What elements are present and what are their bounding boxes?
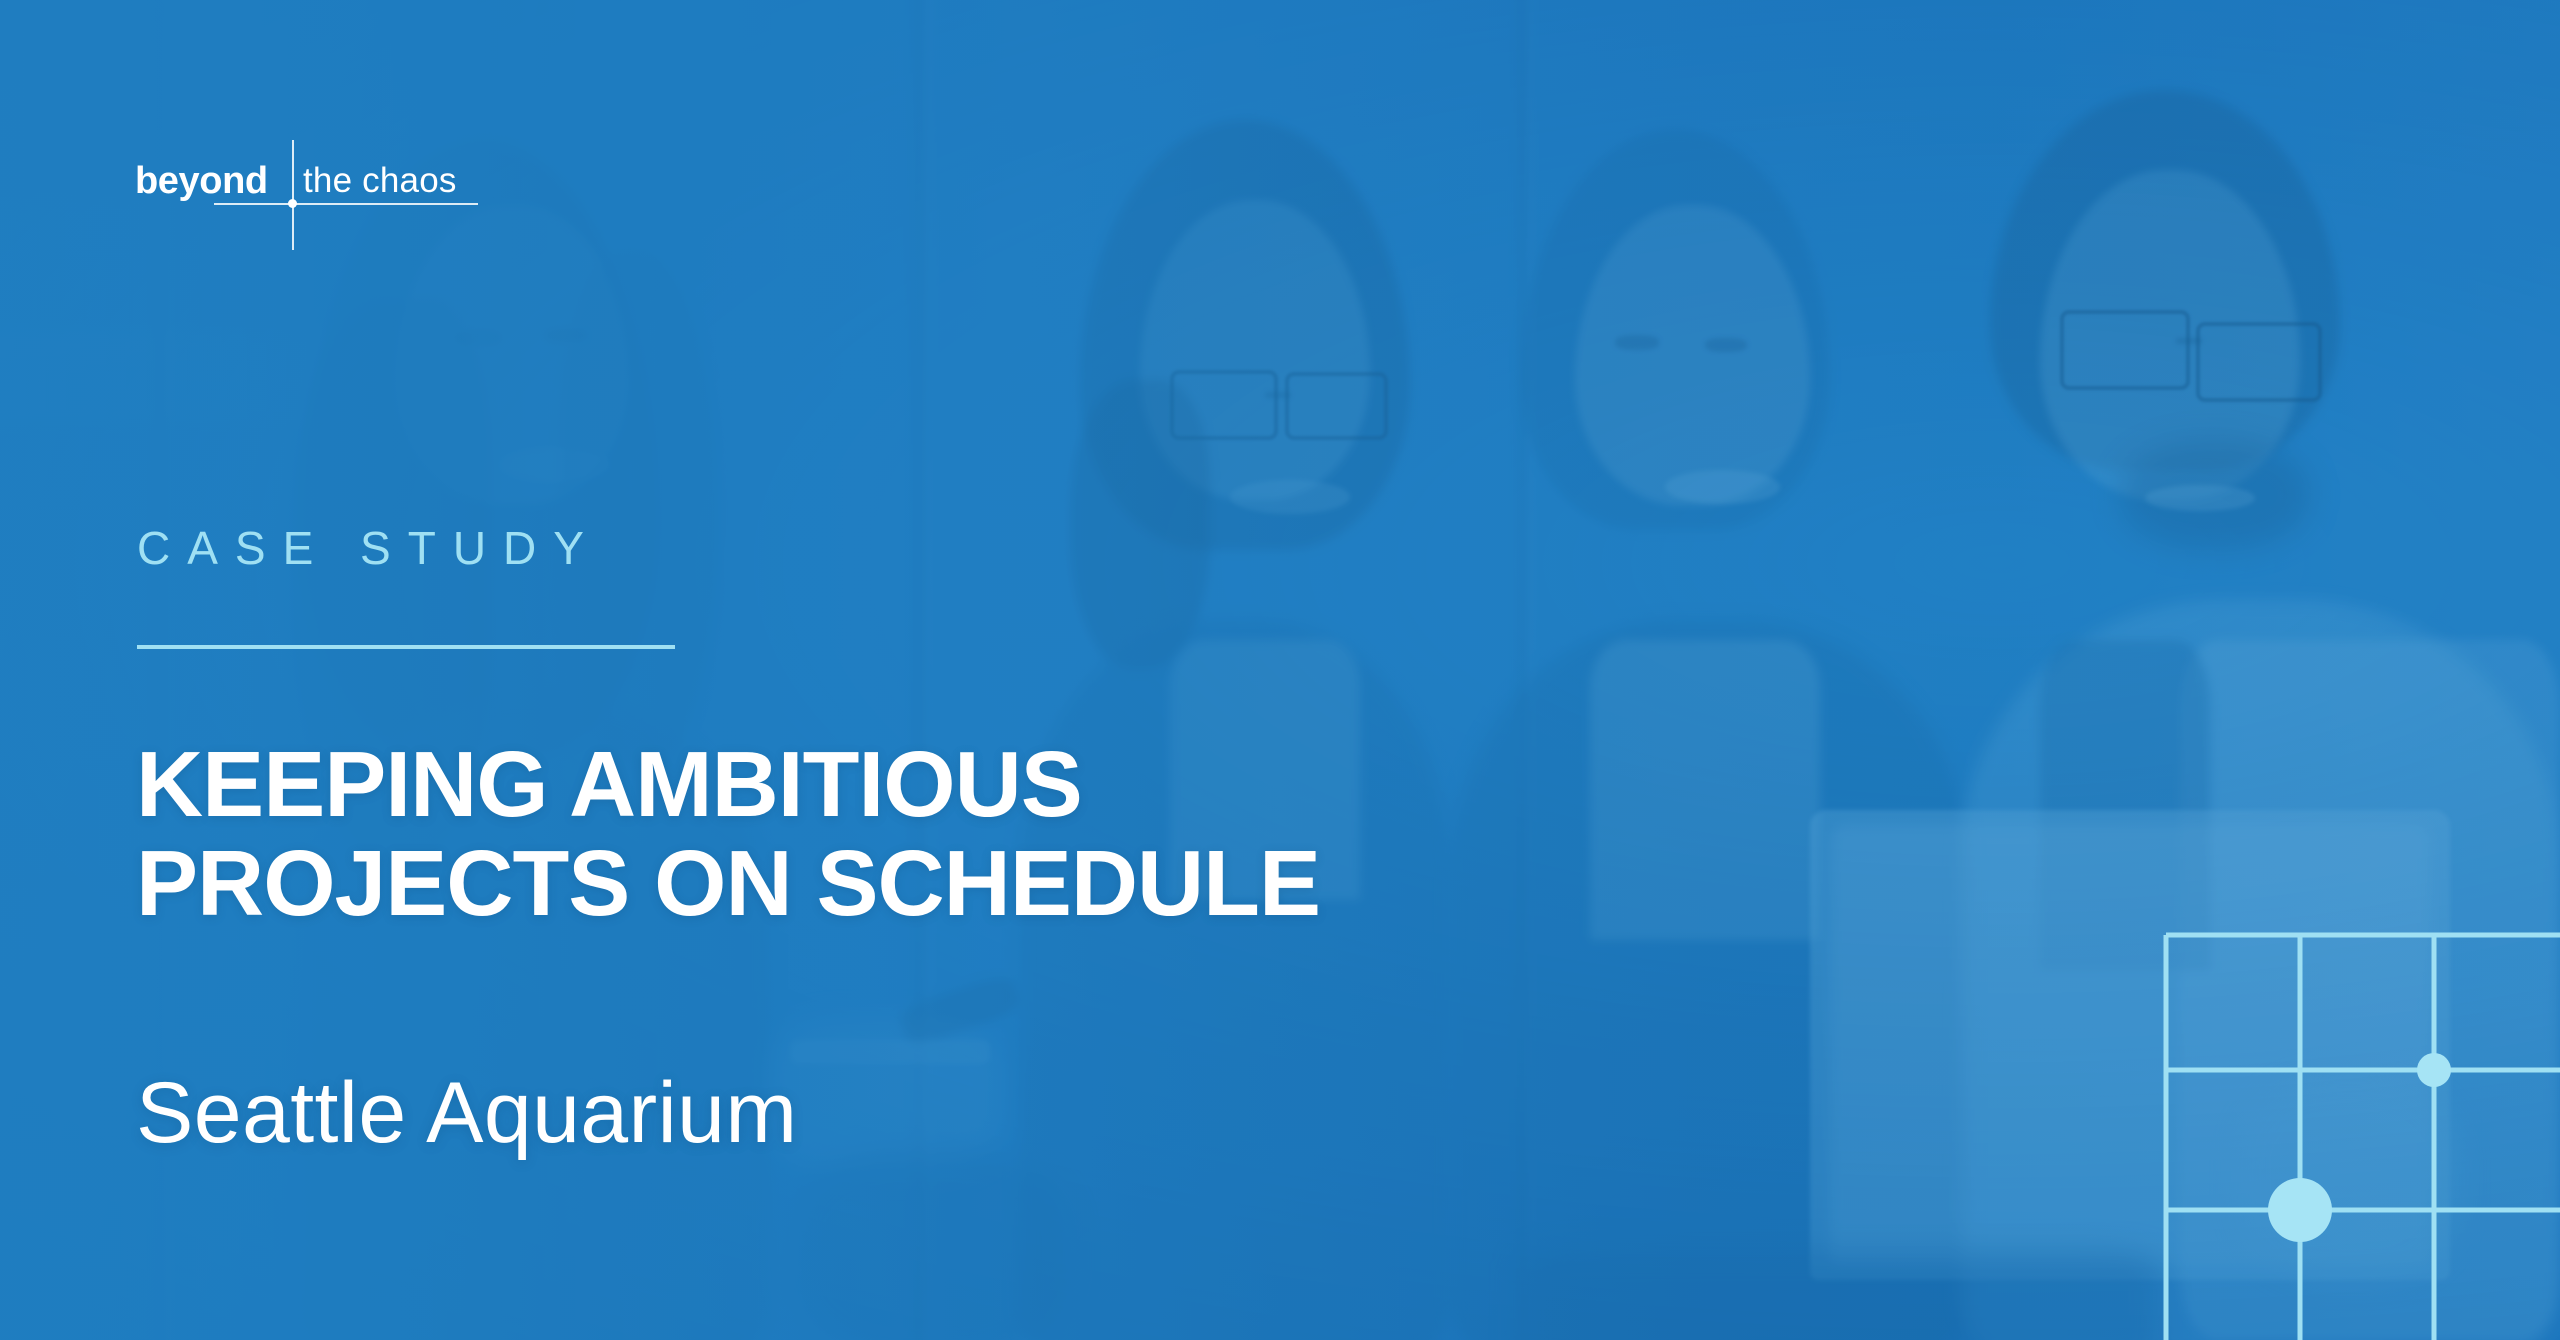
eyebrow-label: CASE STUDY bbox=[137, 525, 601, 571]
headline-line-2: PROJECTS ON SCHEDULE bbox=[136, 834, 1320, 933]
headline-line-1: KEEPING AMBITIOUS bbox=[136, 735, 1320, 834]
subtitle-client-name: Seattle Aquarium bbox=[136, 1070, 797, 1156]
logo-crosshair-dot-icon bbox=[288, 199, 297, 208]
logo-horizontal-rule bbox=[214, 203, 478, 205]
brand-logo[interactable]: beyond the chaos bbox=[135, 148, 535, 258]
logo-word-the-chaos: the chaos bbox=[303, 163, 457, 198]
page-title: KEEPING AMBITIOUS PROJECTS ON SCHEDULE bbox=[136, 735, 1320, 932]
logo-vertical-rule bbox=[292, 140, 294, 250]
case-study-slide: beyond the chaos CASE STUDY KEEPING AMBI… bbox=[0, 0, 2560, 1340]
eyebrow-underline bbox=[137, 645, 675, 649]
logo-word-beyond: beyond bbox=[135, 162, 268, 200]
